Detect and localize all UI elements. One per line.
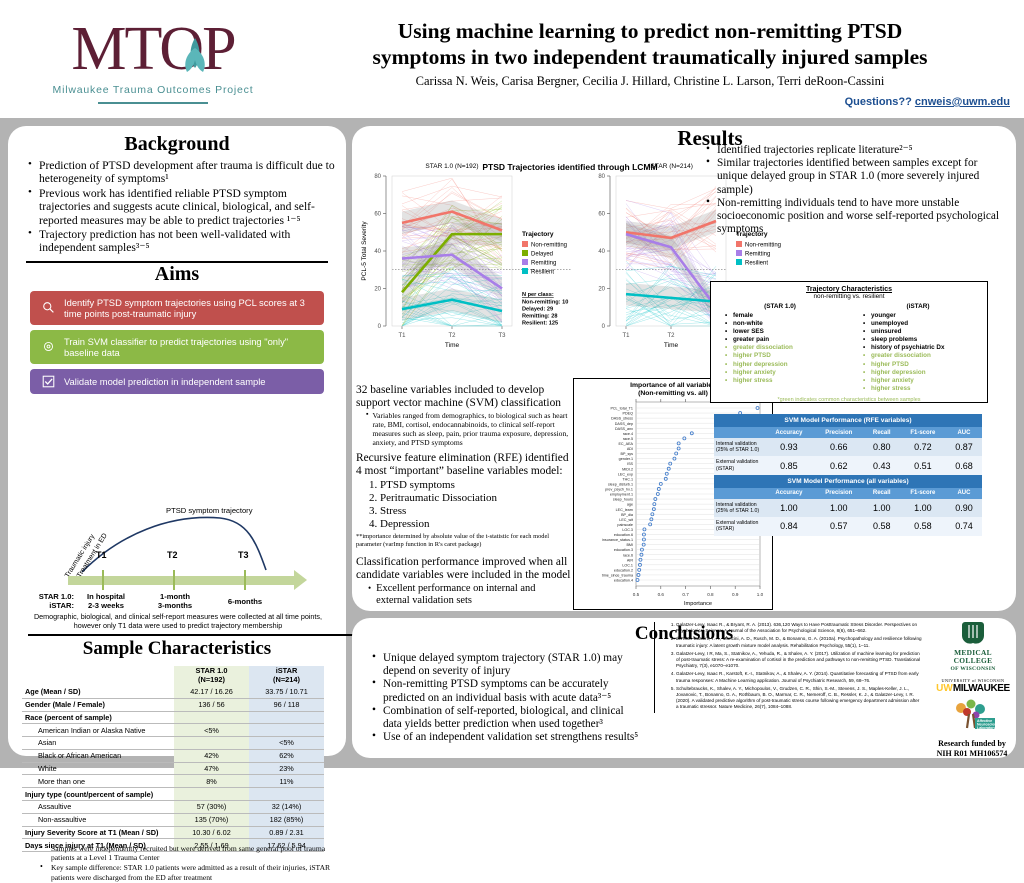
timeline-label-t3: T3 <box>238 550 249 560</box>
table-row: Injury Severity Score at T1 (Mean / SD)1… <box>22 826 324 839</box>
trajectory-characteristics-col-star: (STAR 1.0) femalenon-whitelower SESgreat… <box>711 303 849 393</box>
funding-line1: Research funded by <box>924 739 1020 749</box>
svg-text:race.4: race.4 <box>623 432 633 436</box>
aim-item-label: Train SVM classifier to predict trajecto… <box>64 336 316 358</box>
aims-section-title: Aims <box>8 263 346 286</box>
table-row: Asian<5% <box>22 737 324 750</box>
list-item: deRoon-Cassini, T. A., Mancini, A. D., R… <box>676 636 922 648</box>
svg-text:race.5: race.5 <box>623 437 633 441</box>
svg-text:BP_dia: BP_dia <box>621 513 634 517</box>
author-list: Carissa N. Weis, Carisa Bergner, Cecilia… <box>300 74 1000 89</box>
list-item: Depression <box>380 518 571 531</box>
cell-star: 42.17 / 16.26 <box>174 686 249 698</box>
table-header-row: AccuracyPrecisionRecallF1-scoreAUC <box>714 427 982 438</box>
svg-text:education.2: education.2 <box>614 568 633 572</box>
metric-value: 0.93 <box>764 438 814 456</box>
svg-text:race.6: race.6 <box>623 553 633 557</box>
svg-text:Delayed: 29: Delayed: 29 <box>522 307 553 313</box>
metric-value: 0.85 <box>764 456 814 474</box>
svg-text:Delayed: Delayed <box>531 252 553 258</box>
list-item: higher anxiety <box>863 377 987 385</box>
svg-text:gender.1: gender.1 <box>619 457 633 461</box>
title-block: Using machine learning to predict non-re… <box>300 18 1000 89</box>
header-istar-l2: (N=214) <box>252 676 321 685</box>
metric-value: 1.00 <box>764 499 814 517</box>
aim-item-identify[interactable]: Identify PTSD symptom trajectories using… <box>30 291 324 325</box>
table-banner-row: SVM Model Performance (RFE variables) <box>714 414 982 427</box>
column-header: AUC <box>946 427 982 438</box>
institution-logos: MEDICAL COLLEGE OF WISCONSIN UNIVERSITY … <box>932 620 1014 758</box>
svg-text:T1: T1 <box>622 333 630 339</box>
mcw-shield-icon <box>959 620 987 644</box>
svg-text:60: 60 <box>598 212 605 218</box>
table-row: Age (Mean / SD)42.17 / 16.2633.75 / 10.7… <box>22 686 324 698</box>
checkbox-icon <box>38 375 58 388</box>
table-row: External validation (iSTAR)0.840.570.580… <box>714 517 982 535</box>
list-item: greater dissociation <box>863 352 987 360</box>
cell-star: 47% <box>174 762 249 775</box>
logo-underline <box>98 102 208 104</box>
row-label: Age (Mean / SD) <box>22 686 174 698</box>
svg-text:education.3: education.3 <box>614 548 633 552</box>
conclusions-bullet-list: Unique delayed symptom trajectory (STAR … <box>362 652 644 744</box>
svg-text:N per class:: N per class: <box>522 292 554 298</box>
cell-istar: 32 (14%) <box>249 801 324 814</box>
row-label: Gender (Male / Female) <box>22 698 174 711</box>
svg-text:LOC.1: LOC.1 <box>622 563 633 567</box>
metric-value: 0.51 <box>900 456 946 474</box>
metric-value: 0.87 <box>946 438 982 456</box>
svg-text:PCL_total_T1: PCL_total_T1 <box>610 407 633 411</box>
cell-istar: 33.75 / 10.71 <box>249 686 324 698</box>
row-label: White <box>22 762 174 775</box>
svg-text:BP_sys: BP_sys <box>620 452 633 456</box>
mcw-line2: COLLEGE <box>932 657 1014 665</box>
svg-text:BMI: BMI <box>626 543 633 547</box>
cell-istar: <5% <box>249 737 324 750</box>
list-item: Peritraumatic Dissociation <box>380 492 571 505</box>
table-header: STAR 1.0 (N=192) iSTAR (N=214) <box>22 666 324 686</box>
results-bullet-list: Identified trajectories replicate litera… <box>694 144 1010 236</box>
metric-value: 1.00 <box>814 499 864 517</box>
center-text-footnote: **importance determined by absolute valu… <box>356 533 571 548</box>
right-column-content: Identified trajectories replicate litera… <box>692 126 1016 611</box>
mtop-logo: MTOP Milwaukee Trauma Outcomes Project <box>28 14 288 110</box>
row-label: Assaultive <box>22 801 174 814</box>
table-row: More than one8%11% <box>22 775 324 788</box>
svg-text:DASS_stress: DASS_stress <box>611 417 633 421</box>
funding-line2: NIH R01 MH106574 <box>924 749 1020 759</box>
table-row: Internal validation (25% of STAR 1.0)1.0… <box>714 499 982 517</box>
brain-gear-icon <box>38 340 58 353</box>
svg-text:sleep_disturb.1: sleep_disturb.1 <box>608 482 633 486</box>
column-header: F1-score <box>900 488 946 499</box>
sample-characteristics-title: Sample Characteristics <box>8 638 346 660</box>
row-label: More than one <box>22 775 174 788</box>
svg-text:T1: T1 <box>398 333 406 339</box>
list-item: PTSD symptoms <box>380 479 571 492</box>
table-row: Black or African American42%62% <box>22 749 324 762</box>
svg-text:time_since_trauma: time_since_trauma <box>602 574 634 578</box>
cell-star: 136 / 56 <box>174 698 249 711</box>
list-item: Use of an independent validation set str… <box>372 731 644 744</box>
table-row: White47%23% <box>22 762 324 775</box>
row-label: Non-assaultive <box>22 813 174 826</box>
logo-wordmark: MTOP <box>28 14 278 84</box>
list-item: Trajectory prediction has not been well-… <box>28 228 338 255</box>
svg-text:Non-remitting: 10: Non-remitting: 10 <box>522 300 568 306</box>
trajectory-characteristics-box: Trajectory Characteristics non-remitting… <box>710 281 988 403</box>
metric-value: 0.62 <box>814 456 864 474</box>
cell-istar: 23% <box>249 762 324 775</box>
svg-text:Remitting: Remitting <box>531 261 556 267</box>
row-label: Injury Severity Score at T1 (Mean / SD) <box>22 826 174 839</box>
row-label: External validation (iSTAR) <box>714 456 764 474</box>
cell-istar <box>249 724 324 737</box>
list-item: female <box>725 312 849 320</box>
table-row: External validation (iSTAR)0.850.620.430… <box>714 456 982 474</box>
col-header: (iSTAR) <box>849 303 987 310</box>
table-header-row: STAR 1.0 (N=192) iSTAR (N=214) <box>22 666 324 686</box>
cell-star: 8% <box>174 775 249 788</box>
metric-value: 0.72 <box>900 438 946 456</box>
list-item: higher stress <box>863 385 987 393</box>
metric-value: 0.43 <box>864 456 900 474</box>
metric-value: 0.74 <box>946 517 982 535</box>
list-item: higher stress <box>725 377 849 385</box>
header-star-l2: (N=192) <box>177 676 246 685</box>
uwm-name: MILWAUKEE <box>953 683 1010 694</box>
list-item: Non-remitting PTSD symptoms can be accur… <box>372 678 644 704</box>
timeline-label-t1: T1 <box>96 550 107 560</box>
svg-text:80: 80 <box>374 174 381 180</box>
cell-istar: 62% <box>249 749 324 762</box>
list-item: higher depression <box>863 369 987 377</box>
timeline-t1-star: In hospital <box>76 592 136 601</box>
cell-star: 42% <box>174 749 249 762</box>
trajectory-characteristics-title: Trajectory Characteristics <box>711 286 987 293</box>
svg-text:AIR: AIR <box>627 558 633 562</box>
cell-star: 10.30 / 6.02 <box>174 826 249 839</box>
mcw-line3: OF WISCONSIN <box>932 665 1014 673</box>
svg-text:education.4: education.4 <box>614 579 633 583</box>
metric-value: 0.58 <box>900 517 946 535</box>
timeline-note: Demographic, biological, and clinical se… <box>22 612 334 630</box>
lotus-icon <box>174 34 216 86</box>
characteristics-list: youngerunemployeduninsuredsleep problems… <box>863 312 987 393</box>
list-item: Similar trajectories identified between … <box>706 157 1010 197</box>
list-item: higher anxiety <box>725 369 849 377</box>
poster-title-line1: Using machine learning to predict non-re… <box>300 18 1000 44</box>
column-header: Precision <box>814 427 864 438</box>
svg-text:education.6: education.6 <box>614 533 633 537</box>
cell-istar: 11% <box>249 775 324 788</box>
left-column-panel: Background Prediction of PTSD developmen… <box>8 126 346 756</box>
cell-istar <box>249 711 324 724</box>
column-header: AUC <box>946 488 982 499</box>
list-item: Galatzer-Levy, I R, Ma, S., Statnikov, A… <box>676 651 922 670</box>
svg-text:painscale: painscale <box>617 523 633 527</box>
list-item: Key sample difference: STAR 1.0 patients… <box>40 863 338 881</box>
trajectory-characteristics-note: *green indicates common characteristics … <box>711 397 987 403</box>
list-item: Stress <box>380 505 571 518</box>
list-item: Non-remitting individuals tend to have m… <box>706 197 1010 237</box>
table-row: American Indian or Alaska Native<5% <box>22 724 324 737</box>
cell-star <box>174 737 249 750</box>
references-list: Galatzer-Levy, Isaac R., & Bryant, R. A.… <box>663 622 922 711</box>
svm-tables-group: SVM Model Performance (RFE variables)Acc… <box>714 414 982 536</box>
svg-text:insurance_status.1: insurance_status.1 <box>602 538 633 542</box>
column-header: F1-score <box>900 427 946 438</box>
metric-value: 0.84 <box>764 517 814 535</box>
sample-notes-list: Samples were independently recruited but… <box>26 844 338 883</box>
cell-star: <5% <box>174 724 249 737</box>
cell-istar: 96 / 118 <box>249 698 324 711</box>
timeline-row-label-istar: iSTAR: <box>20 601 74 610</box>
cell-istar <box>249 788 324 801</box>
affective-neuroscience-lab-icon: Affective Neuroscience Laboratory <box>947 698 999 732</box>
results-center-text: 32 baseline variables included to develo… <box>356 384 571 607</box>
metric-value: 0.66 <box>814 438 864 456</box>
svg-text:0.6: 0.6 <box>658 592 665 597</box>
trajectory-curve <box>80 514 290 576</box>
list-item: higher depression <box>725 361 849 369</box>
list-item: Samples were independently recruited but… <box>40 844 338 862</box>
row-label: Injury type (count/percent of sample) <box>22 788 174 801</box>
svg-text:DASS_anx: DASS_anx <box>615 427 633 431</box>
metric-value: 1.00 <box>864 499 900 517</box>
banner-label: SVM Model Performance (all variables) <box>714 475 982 488</box>
svg-text:employment.1: employment.1 <box>610 493 633 497</box>
svg-text:THC.1: THC.1 <box>622 477 633 481</box>
row-label: External validation (iSTAR) <box>714 517 764 535</box>
cell-istar: 182 (85%) <box>249 813 324 826</box>
list-item: Unique delayed symptom trajectory (STAR … <box>372 652 644 678</box>
list-item: lower SES <box>725 328 849 336</box>
sample-characteristics-table: STAR 1.0 (N=192) iSTAR (N=214) Age (Mean… <box>22 666 324 852</box>
aim-item-label: Validate model prediction in independent… <box>64 376 266 387</box>
svg-text:Resilient: 125: Resilient: 125 <box>522 321 558 327</box>
center-text-p1-sub: Variables ranged from demographics, to b… <box>372 411 571 447</box>
svg-text:iSTAR (N=214): iSTAR (N=214) <box>649 163 693 170</box>
svg-text:DASS_dep: DASS_dep <box>615 422 633 426</box>
timeline-label-t2: T2 <box>167 550 178 560</box>
table-row: Non-assaultive135 (70%)182 (85%) <box>22 813 324 826</box>
section-divider <box>28 634 366 636</box>
svg-text:20: 20 <box>374 287 381 293</box>
svg-text:Remitting: 28: Remitting: 28 <box>522 314 557 320</box>
table-row: Gender (Male / Female)136 / 5696 / 118 <box>22 698 324 711</box>
trajectory-characteristics-subtitle: non-remitting vs. resilient <box>711 293 987 300</box>
svg-text:ADI: ADI <box>627 447 633 451</box>
questions-label: Questions?? <box>845 96 912 108</box>
timeline-t1-istar: 2-3 weeks <box>76 601 136 610</box>
svg-text:EC_AEA: EC_AEA <box>618 442 633 446</box>
svg-text:Time: Time <box>664 342 679 349</box>
column-header: Precision <box>814 488 864 499</box>
timeline-row-label-star: STAR 1.0: <box>20 592 74 601</box>
svg-text:Resilient: Resilient <box>531 270 554 276</box>
svg-text:LOC.3: LOC.3 <box>622 528 633 532</box>
logo-tagline: Milwaukee Trauma Outcomes Project <box>28 84 278 96</box>
aim-item-validate[interactable]: Validate model prediction in independent… <box>30 369 324 394</box>
list-item: younger <box>863 312 987 320</box>
characteristics-list: femalenon-whitelower SESgreater paingrea… <box>725 312 849 385</box>
svg-text:PCL-5 Total Severity: PCL-5 Total Severity <box>361 221 368 281</box>
anl-line3: Laboratory <box>977 726 996 730</box>
conclusions-panel: Conclusions Unique delayed symptom traje… <box>352 618 1016 758</box>
banner-label: SVM Model Performance (RFE variables) <box>714 414 982 427</box>
timeline-t3: 6-months <box>216 597 274 606</box>
svg-text:LEC_exp: LEC_exp <box>618 472 633 476</box>
svg-text:40: 40 <box>598 249 605 255</box>
svg-text:20: 20 <box>598 287 605 293</box>
background-section-title: Background <box>8 133 346 156</box>
row-label: Asian <box>22 737 174 750</box>
list-item: Previous work has identified reliable PT… <box>28 187 338 227</box>
svg-text:80: 80 <box>598 174 605 180</box>
timeline-arrowhead <box>294 570 307 590</box>
svg-text:0.5: 0.5 <box>633 592 640 597</box>
svg-text:0: 0 <box>602 324 606 330</box>
svg-text:60: 60 <box>374 212 381 218</box>
svg-text:Time: Time <box>445 342 460 349</box>
column-header: Recall <box>864 427 900 438</box>
center-text-p3-sub: Excellent performance on internal and ex… <box>376 583 571 607</box>
header-star: STAR 1.0 (N=192) <box>174 666 249 686</box>
questions-contact: Questions?? cnweis@uwm.edu <box>845 96 1010 108</box>
svg-text:T2: T2 <box>667 333 675 339</box>
row-label: American Indian or Alaska Native <box>22 724 174 737</box>
background-bullet-list: Prediction of PTSD development after tra… <box>14 159 338 255</box>
table-header-row: AccuracyPrecisionRecallF1-scoreAUC <box>714 488 982 499</box>
timeline-t2-star: 1-month <box>146 592 204 601</box>
cell-star: 57 (30%) <box>174 801 249 814</box>
center-text-p2: Recursive feature elimination (RFE) iden… <box>356 452 571 478</box>
timeline-t2-istar: 3-months <box>146 601 204 610</box>
svg-text:PDEQ: PDEQ <box>623 412 634 416</box>
list-item: higher PTSD <box>863 361 987 369</box>
cell-istar: 0.89 / 2.31 <box>249 826 324 839</box>
list-item: Prediction of PTSD development after tra… <box>28 159 338 186</box>
metric-value: 0.58 <box>864 517 900 535</box>
list-item: uninsured <box>863 328 987 336</box>
header-istar: iSTAR (N=214) <box>249 666 324 686</box>
svg-text:T3: T3 <box>498 333 506 339</box>
bullet-glyph: ▪ <box>366 410 368 450</box>
table-banner-row: SVM Model Performance (all variables) <box>714 475 982 488</box>
list-item: sleep problems <box>863 336 987 344</box>
cell-star <box>174 788 249 801</box>
svg-text:LEC_wit: LEC_wit <box>619 518 633 522</box>
cell-star <box>174 711 249 724</box>
svg-text:ISS: ISS <box>627 462 633 466</box>
timeline-tick-t3 <box>244 570 246 590</box>
svg-text:sleep_hours: sleep_hours <box>613 498 633 502</box>
column-header: Accuracy <box>764 488 814 499</box>
col-header: (STAR 1.0) <box>711 303 849 310</box>
results-section-title: Results <box>560 126 860 151</box>
list-item: higher PTSD <box>725 352 849 360</box>
svg-text:LEC_learn: LEC_learn <box>616 508 633 512</box>
metric-value: 0.68 <box>946 456 982 474</box>
timeline-tick-t2 <box>173 570 175 590</box>
table-row: Race (percent of sample) <box>22 711 324 724</box>
svg-text:0: 0 <box>378 324 382 330</box>
poster-header: MTOP Milwaukee Trauma Outcomes Project U… <box>0 0 1024 118</box>
list-item: Galatzer-Levy, Isaac R., & Bryant, R. A.… <box>676 622 922 634</box>
svm-model-performance-table: SVM Model Performance (RFE variables)Acc… <box>714 414 982 536</box>
references-block: Galatzer-Levy, Isaac R., & Bryant, R. A.… <box>654 622 922 713</box>
timeline-tick-t1 <box>102 570 104 590</box>
svg-text:STAR 1.0 (N=192): STAR 1.0 (N=192) <box>425 163 478 170</box>
header-blank <box>22 666 174 686</box>
uwm-prefix: UW <box>936 683 953 694</box>
list-item: unemployed <box>863 320 987 328</box>
aim-item-label: Identify PTSD symptom trajectories using… <box>64 297 316 319</box>
magnifier-icon <box>38 301 58 314</box>
svg-text:age: age <box>627 503 633 507</box>
column-header: Accuracy <box>764 427 814 438</box>
row-label: Internal validation (25% of STAR 1.0) <box>714 438 764 456</box>
center-text-p3: Classification performance improved when… <box>356 556 571 582</box>
svg-text:prev_psych_hx.1: prev_psych_hx.1 <box>605 488 633 492</box>
header-blank <box>714 488 764 499</box>
list-item: Galatzer-Levy, Isaac R., Karstoft, K.-I.… <box>676 671 922 683</box>
list-item: greater dissociation <box>725 344 849 352</box>
svg-text:40: 40 <box>374 249 381 255</box>
contact-email-link[interactable]: cnweis@uwm.edu <box>915 96 1010 108</box>
list-item: history of psychiatric Dx <box>863 344 987 352</box>
svg-text:T2: T2 <box>448 333 456 339</box>
aim-item-train[interactable]: Train SVM classifier to predict trajecto… <box>30 330 324 364</box>
metric-value: 0.57 <box>814 517 864 535</box>
center-text-p1: 32 baseline variables included to develo… <box>356 384 571 410</box>
svg-text:Non-remitting: Non-remitting <box>531 243 567 249</box>
list-item: Combination of self-reported, biological… <box>372 705 644 731</box>
column-header: Recall <box>864 488 900 499</box>
table-row: Assaultive57 (30%)32 (14%) <box>22 801 324 814</box>
list-item: Schultebraucks, K., Shalev, A. Y., Micho… <box>676 686 922 711</box>
cell-star: 135 (70%) <box>174 813 249 826</box>
svg-text:Trajectory: Trajectory <box>522 231 554 238</box>
table-body: Age (Mean / SD)42.17 / 16.2633.75 / 10.7… <box>22 686 324 852</box>
metric-value: 0.90 <box>946 499 982 517</box>
study-timeline-diagram: PTSD symptom trajectory Traumatic injury… <box>16 504 338 632</box>
list-item: non-white <box>725 320 849 328</box>
header-blank <box>714 427 764 438</box>
poster-title-line2: symptoms in two independent traumaticall… <box>300 44 1000 70</box>
table-row: Internal validation (25% of STAR 1.0)0.9… <box>714 438 982 456</box>
bullet-glyph: • <box>368 583 371 607</box>
metric-value: 0.80 <box>864 438 900 456</box>
table-row: Injury type (count/percent of sample) <box>22 788 324 801</box>
metric-value: 1.00 <box>900 499 946 517</box>
rfe-variable-list: PTSD symptomsPeritraumatic DissociationS… <box>380 479 571 531</box>
row-label: Internal validation (25% of STAR 1.0) <box>714 499 764 517</box>
trajectory-characteristics-col-istar: (iSTAR) youngerunemployeduninsuredsleep … <box>849 303 987 393</box>
list-item: greater pain <box>725 336 849 344</box>
row-label: Black or African American <box>22 749 174 762</box>
svg-text:MIDI.2: MIDI.2 <box>622 467 633 471</box>
svg-text:0.7: 0.7 <box>682 592 689 597</box>
row-label: Race (percent of sample) <box>22 711 174 724</box>
